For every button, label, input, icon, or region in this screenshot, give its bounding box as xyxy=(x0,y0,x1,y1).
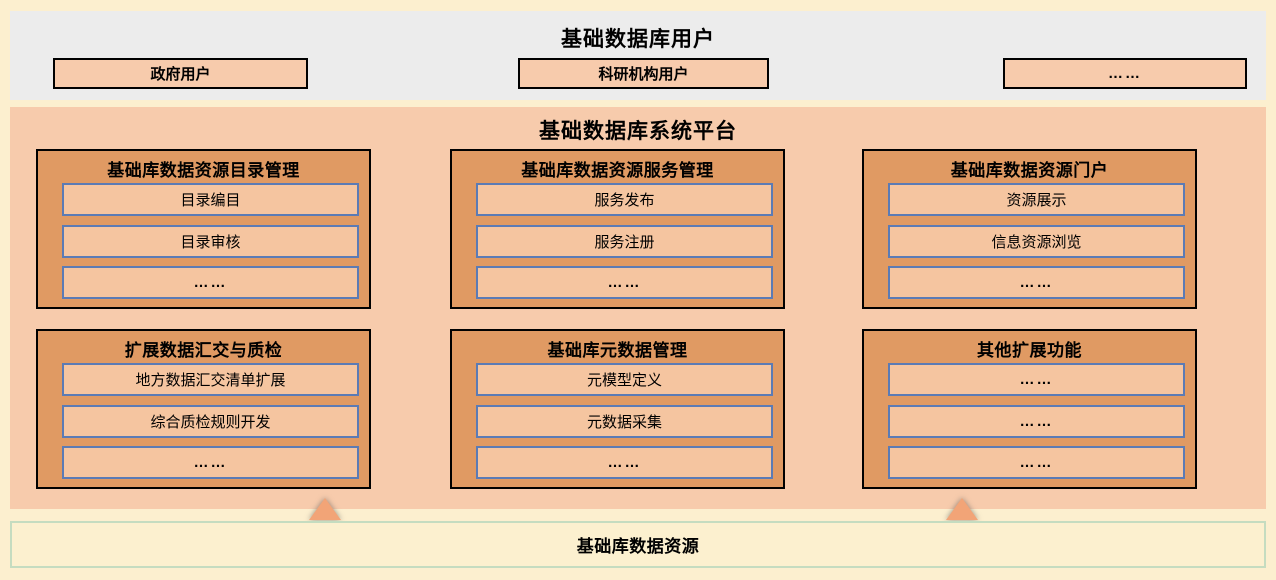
group-item[interactable]: …… xyxy=(888,363,1185,396)
users-panel: 基础数据库用户 政府用户 科研机构用户 …… xyxy=(10,11,1266,100)
group-item[interactable]: 综合质检规则开发 xyxy=(62,405,359,438)
group-title: 其他扩展功能 xyxy=(864,336,1195,361)
group-item[interactable]: …… xyxy=(888,266,1185,299)
group-item-list: 元模型定义 元数据采集 …… xyxy=(476,363,773,479)
resource-band-label: 基础库数据资源 xyxy=(577,532,700,557)
user-box-label: 政府用户 xyxy=(150,63,210,84)
group-item-list: 地方数据汇交清单扩展 综合质检规则开发 …… xyxy=(62,363,359,479)
group-title: 基础库数据资源门户 xyxy=(864,156,1195,181)
user-box-label: 科研机构用户 xyxy=(598,63,688,84)
platform-panel-title: 基础数据库系统平台 xyxy=(10,115,1266,145)
resource-band: 基础库数据资源 xyxy=(10,521,1266,568)
platform-panel: 基础数据库系统平台 基础库数据资源目录管理 目录编目 目录审核 …… 基础库数据… xyxy=(10,107,1266,509)
group-item[interactable]: 资源展示 xyxy=(888,183,1185,216)
group-title: 基础库元数据管理 xyxy=(452,336,783,361)
group-item[interactable]: 地方数据汇交清单扩展 xyxy=(62,363,359,396)
group-item[interactable]: …… xyxy=(476,446,773,479)
group-box-resource-portal[interactable]: 基础库数据资源门户 资源展示 信息资源浏览 …… xyxy=(862,149,1197,309)
group-title: 扩展数据汇交与质检 xyxy=(38,336,369,361)
group-box-service-management[interactable]: 基础库数据资源服务管理 服务发布 服务注册 …… xyxy=(450,149,785,309)
group-item[interactable]: 服务发布 xyxy=(476,183,773,216)
group-title: 基础库数据资源目录管理 xyxy=(38,156,369,181)
group-item[interactable]: 元模型定义 xyxy=(476,363,773,396)
user-box-row: 政府用户 科研机构用户 …… xyxy=(10,58,1266,90)
group-item[interactable]: 服务注册 xyxy=(476,225,773,258)
user-box-research-institution[interactable]: 科研机构用户 xyxy=(518,58,769,89)
group-item[interactable]: 目录审核 xyxy=(62,225,359,258)
group-box-metadata-management[interactable]: 基础库元数据管理 元模型定义 元数据采集 …… xyxy=(450,329,785,489)
group-item-list: …… …… …… xyxy=(888,363,1185,479)
up-arrow-icon xyxy=(946,498,978,520)
group-item[interactable]: 信息资源浏览 xyxy=(888,225,1185,258)
group-item[interactable]: 目录编目 xyxy=(62,183,359,216)
group-item[interactable]: …… xyxy=(888,446,1185,479)
group-box-data-submission-quality[interactable]: 扩展数据汇交与质检 地方数据汇交清单扩展 综合质检规则开发 …… xyxy=(36,329,371,489)
architecture-diagram: 基础数据库用户 政府用户 科研机构用户 …… 基础数据库系统平台 基础库数据资源… xyxy=(0,0,1276,580)
group-box-other-extensions[interactable]: 其他扩展功能 …… …… …… xyxy=(862,329,1197,489)
group-item[interactable]: 元数据采集 xyxy=(476,405,773,438)
up-arrow-icon xyxy=(309,498,341,520)
group-item[interactable]: …… xyxy=(476,266,773,299)
group-item-list: 资源展示 信息资源浏览 …… xyxy=(888,183,1185,299)
platform-group-grid: 基础库数据资源目录管理 目录编目 目录审核 …… 基础库数据资源服务管理 服务发… xyxy=(10,149,1266,499)
users-panel-title: 基础数据库用户 xyxy=(10,23,1266,53)
group-box-catalog-management[interactable]: 基础库数据资源目录管理 目录编目 目录审核 …… xyxy=(36,149,371,309)
user-box-label: …… xyxy=(1108,65,1142,82)
group-item[interactable]: …… xyxy=(888,405,1185,438)
group-item[interactable]: …… xyxy=(62,446,359,479)
user-box-government[interactable]: 政府用户 xyxy=(53,58,308,89)
group-item-list: 目录编目 目录审核 …… xyxy=(62,183,359,299)
group-item[interactable]: …… xyxy=(62,266,359,299)
group-title: 基础库数据资源服务管理 xyxy=(452,156,783,181)
user-box-others[interactable]: …… xyxy=(1003,58,1247,89)
group-item-list: 服务发布 服务注册 …… xyxy=(476,183,773,299)
